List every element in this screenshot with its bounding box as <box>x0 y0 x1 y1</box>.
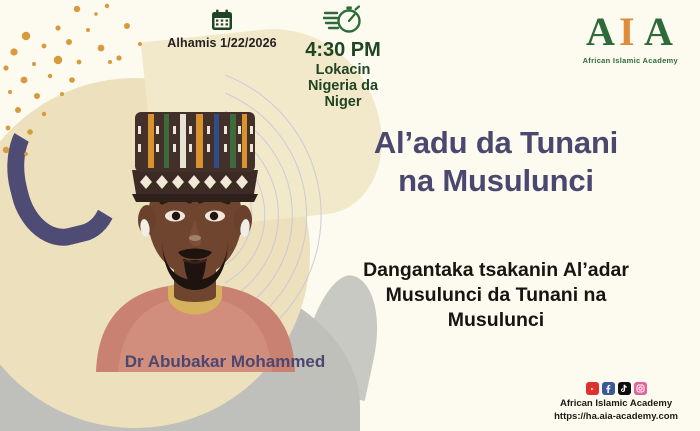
youtube-icon[interactable] <box>586 382 599 395</box>
aia-logo: A A I African Islamic Academy <box>583 12 678 65</box>
title-line-2: na Musulunci <box>300 162 692 200</box>
aia-logo-subtitle: African Islamic Academy <box>583 56 678 65</box>
aia-logo-mark: A A I <box>586 12 674 50</box>
svg-text:I: I <box>619 12 635 50</box>
event-time-value: 4:30 PM <box>278 40 408 61</box>
page-title: Al’adu da Tunani na Musulunci <box>300 124 692 200</box>
event-time-block: 4:30 PM Lokacin Nigeria da Niger <box>278 4 408 111</box>
svg-text:A: A <box>644 12 673 50</box>
calendar-icon <box>210 8 234 32</box>
tiktok-icon[interactable] <box>618 382 631 395</box>
event-timezone-line3: Niger <box>278 94 408 110</box>
instagram-icon[interactable] <box>634 382 647 395</box>
stopwatch-icon <box>323 4 363 38</box>
footer: African Islamic Academy https://ha.aia-a… <box>554 382 678 423</box>
page-subtitle: Dangantaka tsakanin Al’adar Musulunci da… <box>300 258 692 333</box>
footer-url[interactable]: https://ha.aia-academy.com <box>554 411 678 423</box>
subtitle-line-1: Dangantaka tsakanin Al’adar <box>300 258 692 283</box>
event-date-block: Alhamis 1/22/2026 <box>152 8 292 50</box>
svg-text:A: A <box>586 12 615 50</box>
title-line-1: Al’adu da Tunani <box>300 124 692 162</box>
event-timezone-line1: Lokacin <box>278 62 408 78</box>
speaker-name: Dr Abubakar Mohammed <box>60 352 390 372</box>
event-date-text: Alhamis 1/22/2026 <box>152 36 292 50</box>
facebook-icon[interactable] <box>602 382 615 395</box>
speaker-portrait <box>88 52 303 372</box>
event-flyer: Alhamis 1/22/2026 4:30 PM Lokacin Nigeri… <box>0 0 700 431</box>
footer-organization: African Islamic Academy <box>554 398 678 410</box>
social-links <box>554 382 678 395</box>
event-timezone-line2: Nigeria da <box>278 78 408 94</box>
subtitle-line-2: Musulunci da Tunani na <box>300 283 692 308</box>
subtitle-line-3: Musulunci <box>300 308 692 333</box>
